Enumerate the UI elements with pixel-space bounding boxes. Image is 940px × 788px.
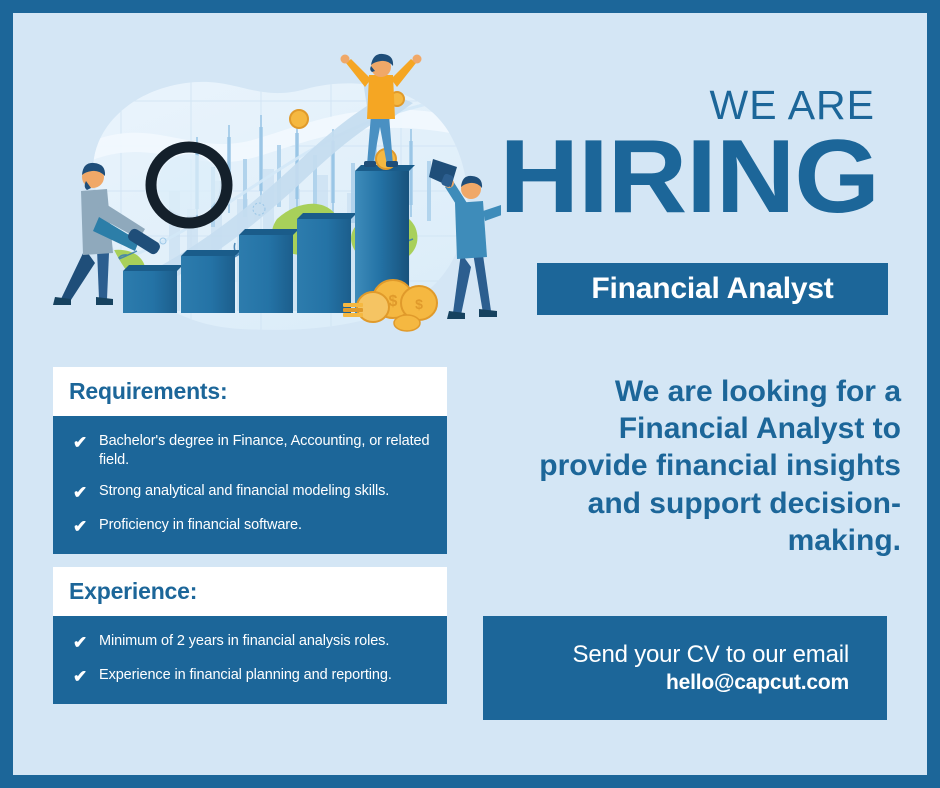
list-item: ✔ Minimum of 2 years in financial analys… — [67, 632, 433, 653]
experience-title: Experience: — [69, 578, 197, 605]
cta-instruction: Send your CV to our email — [573, 641, 849, 669]
page-title-hiring: HIRING — [500, 125, 879, 229]
list-item-text: Experience in financial planning and rep… — [99, 666, 433, 685]
poster-canvas: $ $ — [13, 13, 927, 775]
svg-text:$: $ — [415, 296, 423, 312]
check-icon: ✔ — [67, 666, 99, 687]
requirements-list: ✔ Bachelor's degree in Finance, Accounti… — [53, 416, 447, 554]
requirements-panel: Requirements: ✔ Bachelor's degree in Fin… — [53, 367, 447, 554]
check-icon: ✔ — [67, 432, 99, 453]
list-item-text: Strong analytical and financial modeling… — [99, 482, 433, 501]
coin-stack-side — [343, 303, 363, 317]
financial-growth-illustration: $ $ — [41, 41, 501, 346]
requirements-header: Requirements: — [53, 367, 447, 416]
job-description: We are looking for a Financial Analyst t… — [513, 373, 901, 559]
role-badge-label: Financial Analyst — [591, 272, 833, 306]
cta-contact-box: Send your CV to our email hello@capcut.c… — [483, 616, 887, 720]
hiring-poster: $ $ — [0, 0, 940, 788]
list-item-text: Bachelor's degree in Finance, Accounting… — [99, 432, 433, 469]
experience-header: Experience: — [53, 567, 447, 616]
check-icon: ✔ — [67, 632, 99, 653]
experience-list: ✔ Minimum of 2 years in financial analys… — [53, 616, 447, 704]
list-item-text: Proficiency in financial software. — [99, 516, 433, 535]
role-badge: Financial Analyst — [537, 263, 888, 315]
list-item: ✔ Experience in financial planning and r… — [67, 666, 433, 687]
contact-email[interactable]: hello@capcut.com — [666, 671, 849, 695]
check-icon: ✔ — [67, 516, 99, 537]
experience-panel: Experience: ✔ Minimum of 2 years in fina… — [53, 567, 447, 704]
list-item: ✔ Strong analytical and financial modeli… — [67, 482, 433, 503]
list-item: ✔ Bachelor's degree in Finance, Accounti… — [67, 432, 433, 469]
check-icon: ✔ — [67, 482, 99, 503]
requirements-title: Requirements: — [69, 378, 227, 405]
list-item-text: Minimum of 2 years in financial analysis… — [99, 632, 433, 651]
list-item: ✔ Proficiency in financial software. — [67, 516, 433, 537]
